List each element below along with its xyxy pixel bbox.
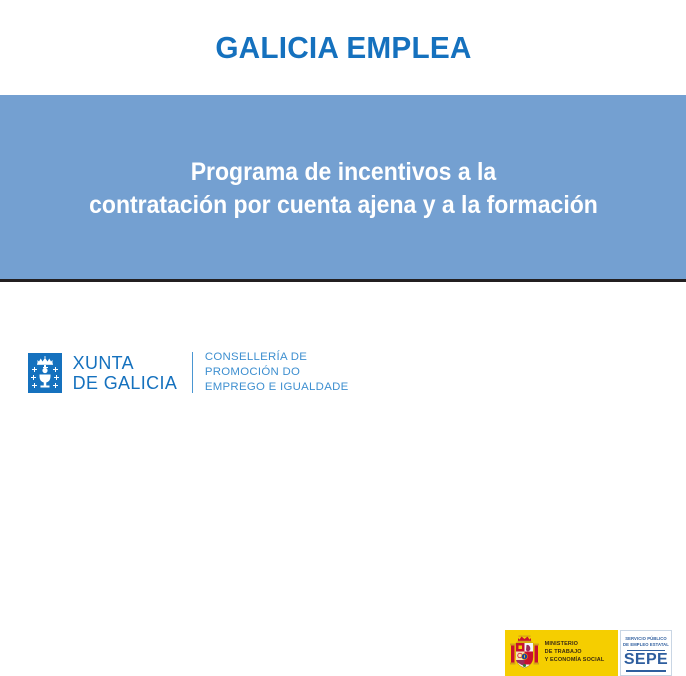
conselleria-label: CONSELLERÍA DE PROMOCIÓN DO EMPREGO E IG… bbox=[205, 350, 349, 395]
sepe-underline bbox=[626, 670, 666, 672]
spain-coat-of-arms-icon bbox=[510, 635, 539, 671]
cross-icon bbox=[53, 367, 58, 372]
galicia-coat-of-arms-icon bbox=[28, 353, 62, 393]
sepe-divider-line bbox=[627, 650, 665, 651]
cross-icon bbox=[31, 375, 36, 380]
cross-icon bbox=[53, 383, 58, 388]
page-title: GALICIA EMPLEA bbox=[215, 32, 471, 63]
xunta-de-galicia-logo: XUNTA DE GALICIA CONSELLERÍA DE PROMOCIÓ… bbox=[28, 350, 349, 395]
sepe-subtitle: SERVICIO PÚBLICO DE EMPLEO ESTATAL bbox=[623, 636, 669, 648]
ministerio-trabajo-logo: MINISTERIO DE TRABAJO Y ECONOMÍA SOCIAL bbox=[505, 630, 618, 676]
xunta-wordmark: XUNTA DE GALICIA bbox=[73, 353, 178, 392]
program-banner: Programa de incentivos a la contratación… bbox=[0, 95, 686, 279]
ministerio-label: MINISTERIO DE TRABAJO Y ECONOMÍA SOCIAL bbox=[545, 641, 605, 665]
footer-logo-strip: XUNTA DE GALICIA CONSELLERÍA DE PROMOCIÓ… bbox=[0, 282, 686, 410]
cross-icon bbox=[32, 383, 37, 388]
chalice-icon bbox=[38, 367, 53, 390]
crown-icon bbox=[37, 356, 54, 365]
page-header: GALICIA EMPLEA bbox=[0, 0, 686, 95]
sepe-acronym: SEPE bbox=[624, 652, 668, 668]
logo-divider bbox=[192, 352, 193, 393]
program-banner-text: Programa de incentivos a la contratación… bbox=[89, 156, 598, 222]
cross-icon bbox=[54, 375, 59, 380]
sepe-logo: SERVICIO PÚBLICO DE EMPLEO ESTATAL SEPE bbox=[620, 630, 672, 676]
cross-icon bbox=[32, 367, 37, 372]
